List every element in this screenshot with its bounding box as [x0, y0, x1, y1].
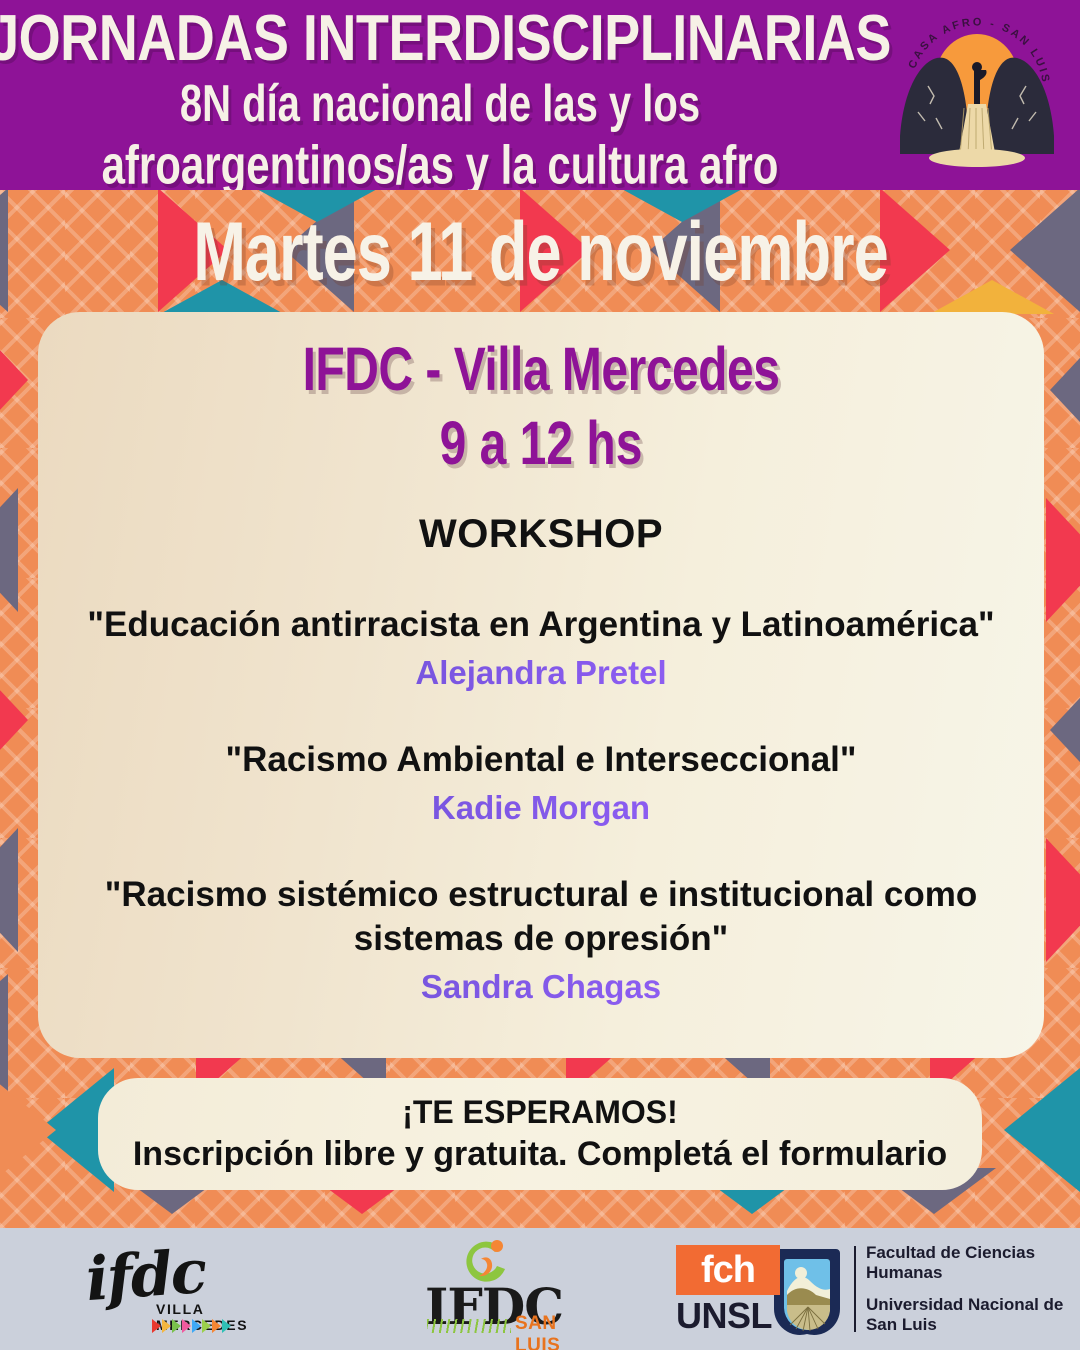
- talk-speaker: Sandra Chagas: [68, 968, 1014, 1006]
- page-title: JORNADAS INTERDISCIPLINARIAS: [0, 6, 898, 71]
- fch-unsl-logo: fch UNSL: [660, 1228, 1080, 1350]
- decor-triangle: [0, 318, 28, 442]
- event-date: Martes 11 de noviembre: [193, 204, 888, 300]
- decor-triangle: [0, 1068, 56, 1192]
- decor-triangle: [1046, 838, 1080, 962]
- talk-speaker: Kadie Morgan: [68, 789, 1014, 827]
- talk-speaker: Alejandra Pretel: [68, 654, 1014, 692]
- registration-callout: ¡TE ESPERAMOS! Inscripción libre y gratu…: [98, 1078, 982, 1190]
- talk-title: "Racismo sistémico estructural e institu…: [68, 873, 1014, 963]
- talk-item: "Racismo Ambiental e Interseccional" Kad…: [68, 738, 1014, 827]
- program-card: IFDC - Villa Mercedes 9 a 12 hs WORKSHOP…: [38, 312, 1044, 1058]
- faculty-name: Facultad de Ciencias Humanas: [866, 1243, 1070, 1283]
- header-title-block: JORNADAS INTERDISCIPLINARIAS 8N día naci…: [0, 6, 880, 180]
- ifdc-villa-mercedes-logo: ifdc VILLA MERCEDES: [0, 1228, 360, 1350]
- unsl-shield-icon: [770, 1243, 844, 1335]
- decor-triangle: [1050, 328, 1080, 452]
- decor-triangle: [0, 488, 18, 612]
- subtitle-line-2: afroargentinos/as y la cultura afro: [0, 138, 880, 190]
- fch-badge-label: fch: [701, 1251, 755, 1289]
- university-name: Universidad Nacional de San Luis: [866, 1295, 1070, 1335]
- ifdc-san-luis-logo: IFDC SAN LUIS: [360, 1228, 660, 1350]
- unsl-acronym: UNSL: [676, 1295, 772, 1337]
- chevron-strip-icon: [152, 1319, 231, 1333]
- header-banner: JORNADAS INTERDISCIPLINARIAS 8N día naci…: [0, 0, 1080, 190]
- talk-item: "Racismo sistémico estructural e institu…: [68, 873, 1014, 1007]
- fch-badge: fch: [676, 1245, 780, 1295]
- event-hours: 9 a 12 hs: [68, 414, 1014, 475]
- venue-name: IFDC - Villa Mercedes: [68, 340, 1014, 401]
- footer-logo-bar: ifdc VILLA MERCEDES: [0, 1228, 1080, 1350]
- dash-strip-icon: [427, 1319, 511, 1333]
- cta-description: Inscripción libre y gratuita. Completá e…: [133, 1135, 947, 1174]
- decor-triangle: [1004, 1068, 1080, 1192]
- cta-headline: ¡TE ESPERAMOS!: [402, 1094, 678, 1131]
- decor-triangle: [1050, 668, 1080, 792]
- decor-triangle: [0, 658, 28, 782]
- san-luis-label: SAN LUIS: [515, 1313, 605, 1350]
- talk-item: "Educación antirracista en Argentina y L…: [68, 603, 1014, 692]
- casa-afro-san-luis-logo: CASA AFRO - SAN LUIS: [888, 8, 1066, 180]
- subtitle-line-1: 8N día nacional de las y los: [0, 78, 880, 130]
- talk-title: "Educación antirracista en Argentina y L…: [68, 603, 1014, 648]
- decor-triangle: [1046, 498, 1080, 622]
- event-date-band: Martes 11 de noviembre: [0, 196, 1080, 308]
- decor-triangle: [0, 828, 18, 952]
- logo-divider: [854, 1246, 856, 1332]
- poster: JORNADAS INTERDISCIPLINARIAS 8N día naci…: [0, 0, 1080, 1350]
- talk-title: "Racismo Ambiental e Interseccional": [68, 738, 1014, 783]
- section-label: WORKSHOP: [68, 512, 1014, 557]
